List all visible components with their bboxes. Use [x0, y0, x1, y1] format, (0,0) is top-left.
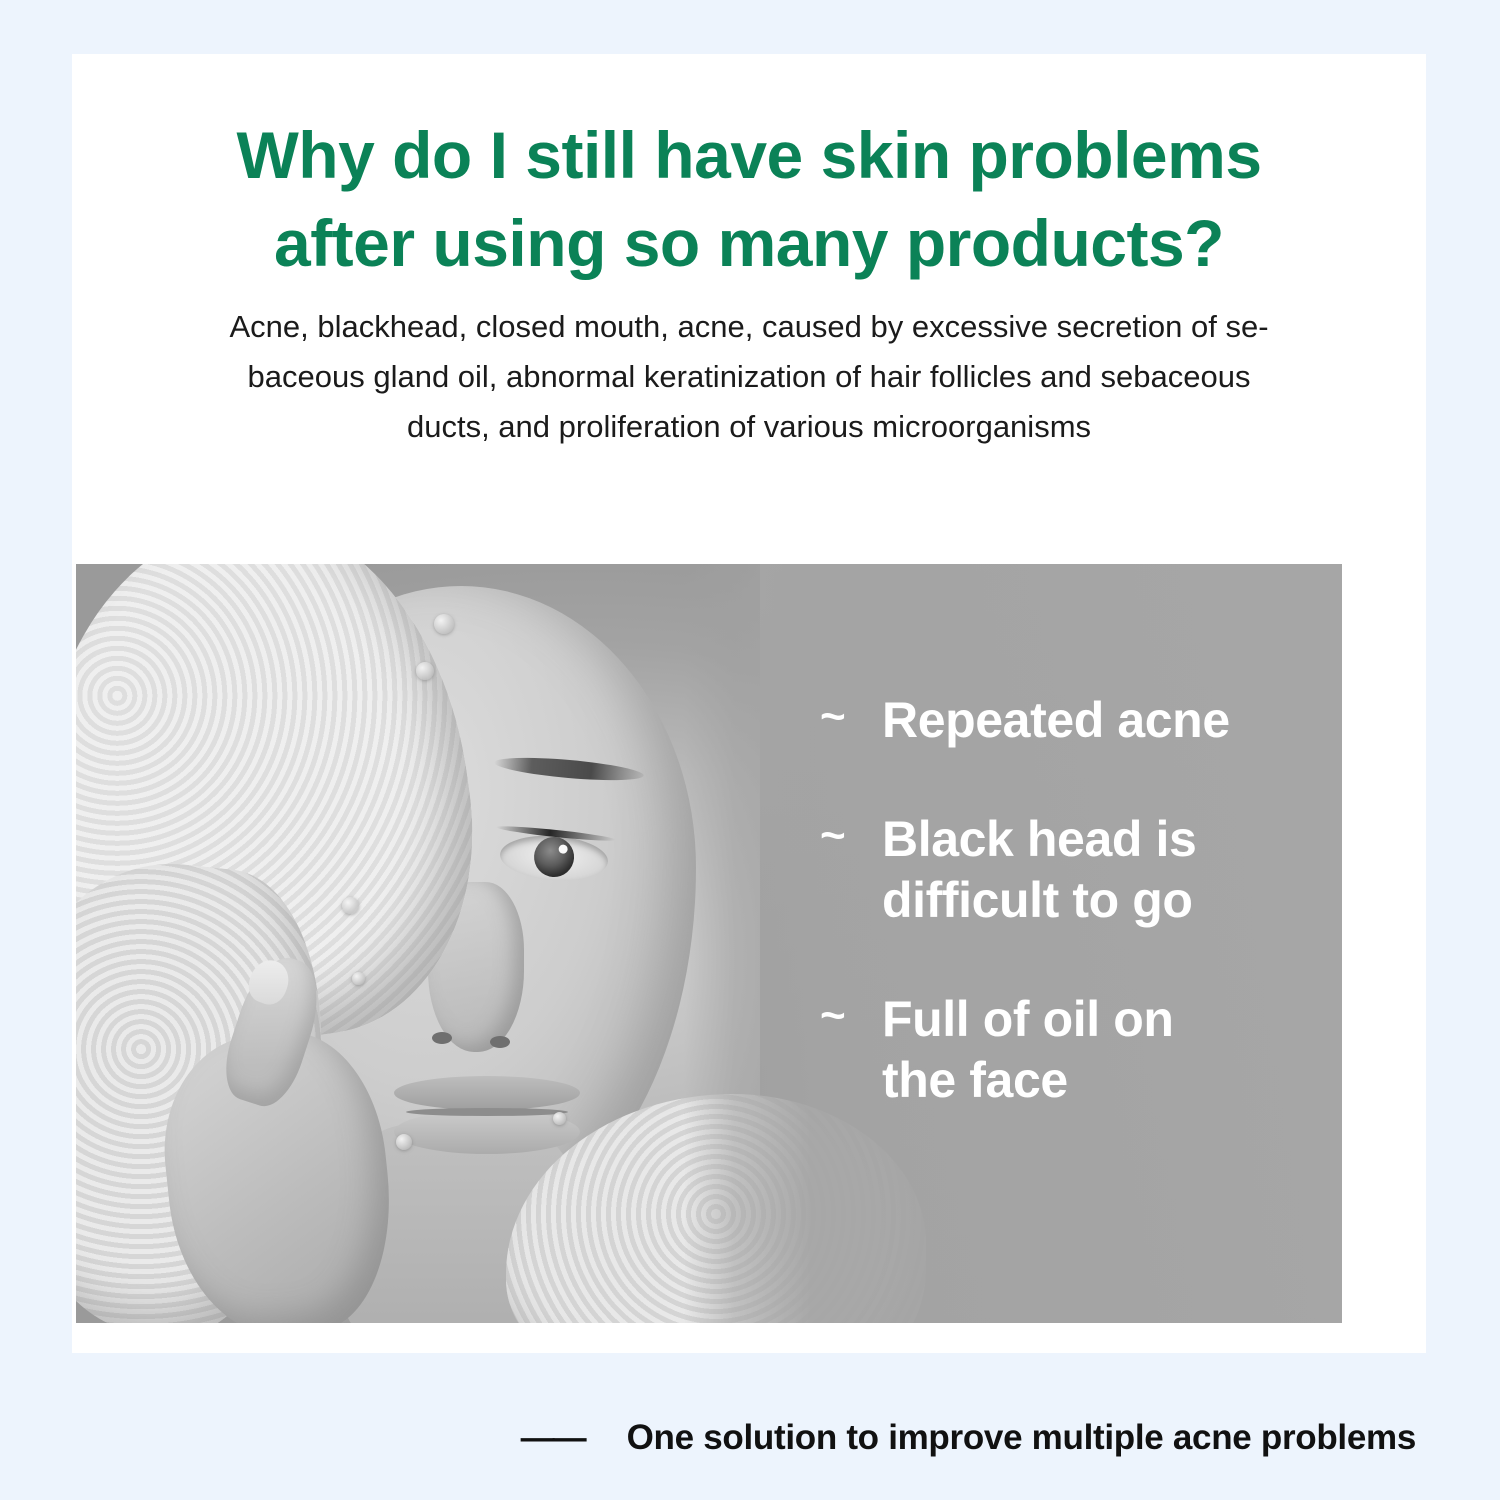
description-line-3: ducts, and proliferation of various micr… [132, 402, 1366, 452]
symptom-label-2: Black head isdifficult to go [882, 809, 1196, 931]
description-line-2: baceous gland oil, abnormal keratinizati… [132, 352, 1366, 402]
tilde-bullet-icon: ~ [820, 809, 882, 863]
description-paragraph: Acne, blackhead, closed mouth, acne, cau… [132, 302, 1366, 453]
symptom-label-3-line-2: the face [882, 1052, 1068, 1108]
symptom-label-1: Repeated acne [882, 690, 1230, 751]
tilde-bullet-icon: ~ [820, 690, 882, 744]
footer-tagline: —— One solution to improve multiple acne… [72, 1420, 1426, 1455]
symptom-label-2-line-1: Black head is [882, 811, 1196, 867]
content-card: Why do I still have skin problems after … [72, 54, 1426, 1353]
tilde-bullet-icon: ~ [820, 989, 882, 1043]
list-item: ~ Repeated acne [820, 690, 1320, 751]
symptom-label-3-line-1: Full of oil on [882, 991, 1174, 1047]
double-dash-icon: —— [521, 1421, 585, 1455]
list-item: ~ Full of oil onthe face [820, 989, 1320, 1111]
list-item: ~ Black head isdifficult to go [820, 809, 1320, 931]
symptom-label-3: Full of oil onthe face [882, 989, 1174, 1111]
symptom-list: ~ Repeated acne ~ Black head isdifficult… [820, 690, 1320, 1111]
poster-root: Why do I still have skin problems after … [0, 0, 1500, 1500]
page-title-line-1: Why do I still have skin problems [132, 112, 1366, 200]
page-title-line-2: after using so many products? [132, 200, 1366, 288]
symptom-label-2-line-2: difficult to go [882, 872, 1193, 928]
hero-photo-panel: ~ Repeated acne ~ Black head isdifficult… [76, 564, 1342, 1323]
description-line-1: Acne, blackhead, closed mouth, acne, cau… [132, 302, 1366, 352]
footer-tagline-text: One solution to improve multiple acne pr… [627, 1420, 1416, 1455]
page-title: Why do I still have skin problems after … [132, 112, 1366, 288]
